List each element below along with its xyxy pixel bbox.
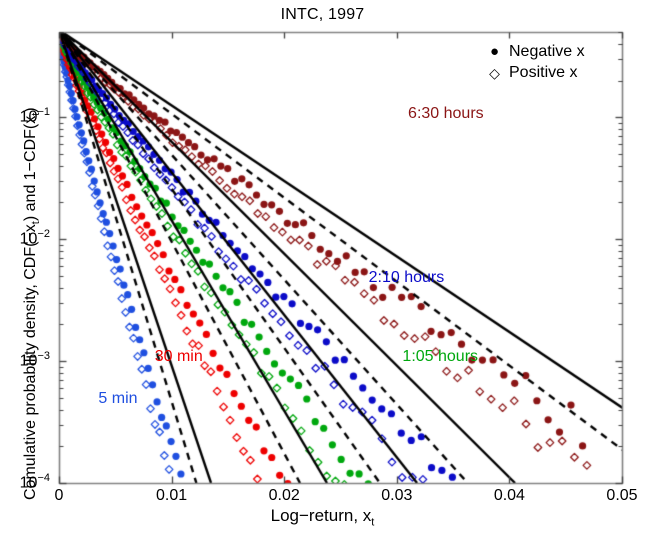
y-axis-label-part-2: ) and 1−CDF(x: [22, 116, 39, 221]
legend-entry-negative: ● Negative x: [487, 41, 585, 62]
y-tick-mantissa-3: 10: [20, 474, 38, 491]
y-tick-exponent-1: −2: [37, 228, 50, 240]
x-tick-label-5: 0.05: [592, 487, 645, 505]
x-tick-label-1: 0.01: [142, 487, 202, 505]
y-tick-label-3: 10−4: [4, 472, 50, 492]
y-tick-mantissa-0: 10: [20, 109, 38, 126]
y-tick-exponent-0: −1: [37, 106, 50, 118]
y-tick-exponent-2: −3: [37, 350, 50, 362]
y-axis-label: Comulative probability density, CDF(−xt)…: [22, 107, 42, 500]
y-tick-label-1: 10−2: [4, 228, 50, 248]
legend-entry-positive: ◇ Positive x: [487, 62, 585, 83]
series-annotation-1-05-hours: 1:05 hours: [402, 348, 478, 366]
x-tick-label-3: 0.03: [367, 487, 427, 505]
filled-circle-icon: ●: [487, 44, 502, 59]
series-annotation-30-min: 30 min: [155, 348, 203, 366]
chart-legend: ● Negative x ◇ Positive x: [487, 41, 585, 83]
x-axis-label-text: Log−return, x: [271, 506, 372, 525]
y-tick-label-2: 10−3: [4, 350, 50, 370]
y-axis-label-sub-1: t: [30, 221, 42, 224]
y-tick-mantissa-1: 10: [20, 230, 38, 247]
series-annotation-2-10-hours: 2:10 hours: [369, 269, 445, 287]
open-diamond-icon: ◇: [487, 66, 502, 80]
legend-label-positive: Positive x: [509, 62, 577, 83]
x-tick-label-4: 0.04: [479, 487, 539, 505]
legend-label-negative: Negative x: [509, 41, 585, 62]
y-tick-mantissa-2: 10: [20, 352, 38, 369]
series-annotation-5-min: 5 min: [98, 390, 137, 408]
x-axis-label: Log−return, xt: [0, 506, 645, 528]
y-tick-label-0: 10−1: [4, 106, 50, 126]
x-tick-label-2: 0.02: [254, 487, 314, 505]
series-annotation-6-30-hours: 6:30 hours: [408, 105, 484, 123]
figure-container: INTC, 1997 Log−return, xt Comulative pro…: [0, 0, 645, 540]
y-tick-exponent-3: −4: [37, 472, 50, 484]
x-axis-label-subscript: t: [371, 516, 374, 528]
chart-title: INTC, 1997: [0, 6, 645, 24]
